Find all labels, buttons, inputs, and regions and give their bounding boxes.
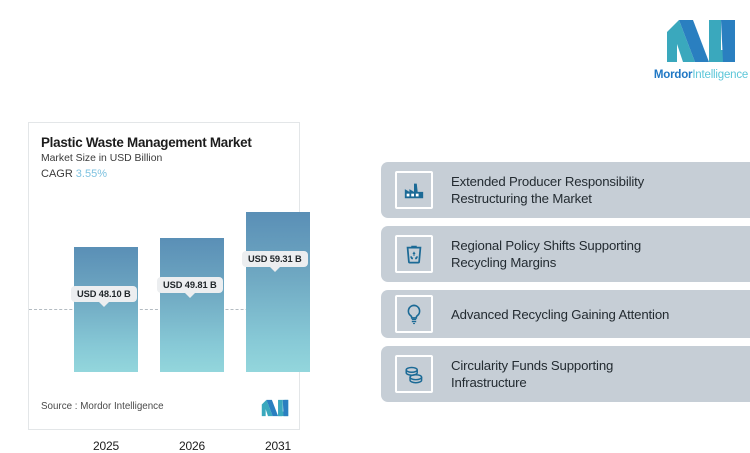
chart-subtitle: Market Size in USD Billion bbox=[41, 153, 162, 164]
chart-plot-area: USD 48.10 B USD 49.81 B USD 59.31 B 2025… bbox=[29, 185, 299, 372]
chart-title: Plastic Waste Management Market bbox=[41, 135, 252, 150]
chart-card: Plastic Waste Management Market Market S… bbox=[28, 122, 300, 430]
bar-label-2025: USD 48.10 B bbox=[71, 286, 137, 302]
insight-line-1: Regional Policy Shifts Supporting bbox=[451, 238, 641, 253]
recycle-bin-icon bbox=[395, 235, 433, 273]
insights-panel: Extended Producer Responsibility Restruc… bbox=[381, 162, 750, 410]
bar-2031 bbox=[246, 212, 310, 372]
insight-line-1: Circularity Funds Supporting bbox=[451, 358, 613, 373]
lightbulb-icon bbox=[395, 295, 433, 333]
factory-icon bbox=[395, 171, 433, 209]
bar-label-2031: USD 59.31 B bbox=[242, 251, 308, 267]
insight-item-label: Regional Policy Shifts Supporting Recycl… bbox=[451, 237, 641, 271]
footer-mordor-m-mark-icon bbox=[261, 399, 289, 417]
insight-line-2: Restructuring the Market bbox=[451, 191, 592, 206]
brand-name-bold: Mordor bbox=[654, 69, 692, 81]
brand-logo: MordorIntelligence bbox=[652, 0, 750, 98]
mordor-m-mark-icon bbox=[665, 18, 737, 64]
brand-name-light: Intelligence bbox=[692, 69, 748, 81]
insight-item-label: Extended Producer Responsibility Restruc… bbox=[451, 173, 644, 207]
x-axis-label-2026: 2026 bbox=[160, 439, 224, 453]
cagr-value: 3.55% bbox=[76, 168, 107, 180]
x-axis-label-2031: 2031 bbox=[246, 439, 310, 453]
coins-icon bbox=[395, 355, 433, 393]
insight-line-2: Infrastructure bbox=[451, 375, 527, 390]
insight-item-label: Circularity Funds Supporting Infrastruct… bbox=[451, 357, 613, 391]
bar-2026 bbox=[160, 238, 224, 372]
insight-item-circularity-funds[interactable]: Circularity Funds Supporting Infrastruct… bbox=[381, 346, 750, 402]
cagr-row: CAGR3.55% bbox=[41, 168, 107, 180]
insight-item-label: Advanced Recycling Gaining Attention bbox=[451, 306, 669, 323]
insight-line-1: Advanced Recycling Gaining Attention bbox=[451, 307, 669, 322]
cagr-label: CAGR bbox=[41, 168, 73, 180]
bar-label-2026: USD 49.81 B bbox=[157, 277, 223, 293]
insight-item-extended-producer-responsibility[interactable]: Extended Producer Responsibility Restruc… bbox=[381, 162, 750, 218]
brand-wordmark: MordorIntelligence bbox=[654, 69, 748, 81]
x-axis-label-2025: 2025 bbox=[74, 439, 138, 453]
insight-line-2: Recycling Margins bbox=[451, 255, 556, 270]
bar-2025 bbox=[74, 247, 138, 372]
chart-source-text: Source : Mordor Intelligence bbox=[41, 401, 164, 412]
insight-item-regional-policy-shifts[interactable]: Regional Policy Shifts Supporting Recycl… bbox=[381, 226, 750, 282]
insight-item-advanced-recycling[interactable]: Advanced Recycling Gaining Attention bbox=[381, 290, 750, 338]
insight-line-1: Extended Producer Responsibility bbox=[451, 174, 644, 189]
